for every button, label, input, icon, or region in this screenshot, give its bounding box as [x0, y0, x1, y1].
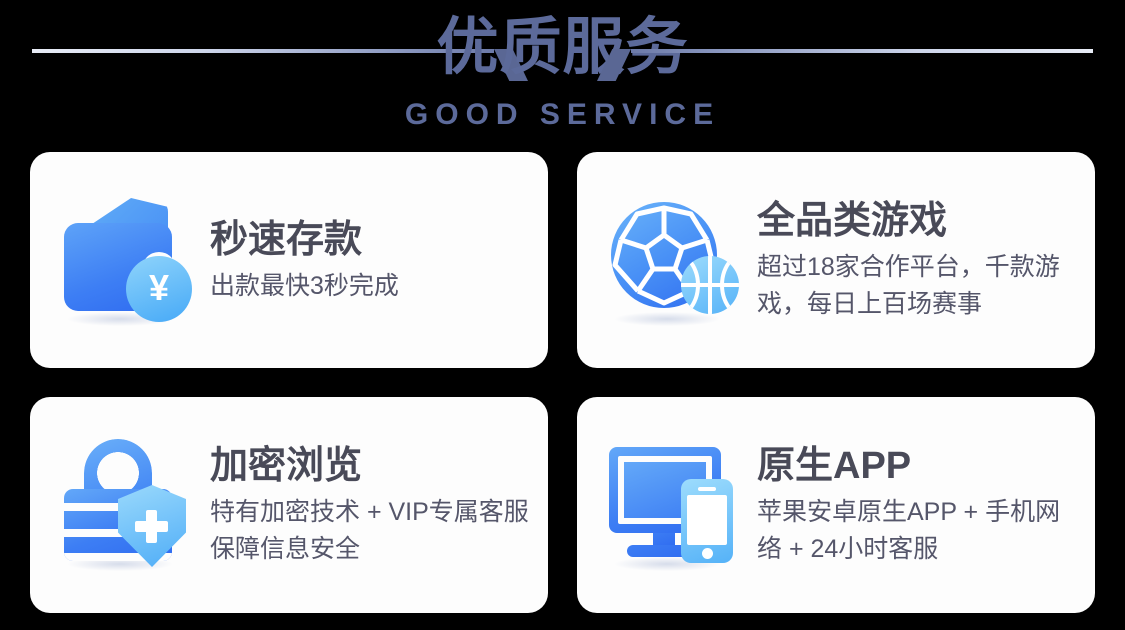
feature-card-grid: ¥ 秒速存款 出款最快3秒完成: [30, 152, 1095, 612]
card-subtitle: 特有加密技术 + VIP专属客服保障信息安全: [210, 494, 530, 568]
card-title: 加密浏览: [210, 442, 530, 490]
card-text-block: 秒速存款 出款最快3秒完成: [204, 216, 530, 305]
phone-home-button: [702, 548, 713, 559]
section-header: 优质服务 GOOD SERVICE: [0, 0, 1125, 148]
monitor-phone-icon: [603, 435, 751, 575]
card-subtitle: 出款最快3秒完成: [210, 268, 530, 305]
phone-screen-shape: [687, 495, 727, 545]
yen-coin-icon: ¥: [126, 256, 192, 322]
phone-speaker-shape: [698, 487, 716, 491]
card-subtitle: 苹果安卓原生APP + 手机网络 + 24小时客服: [757, 494, 1077, 568]
feature-card-all-category-games[interactable]: 全品类游戏 超过18家合作平台，千款游戏，每日上百场赛事: [577, 152, 1095, 368]
card-subtitle: 超过18家合作平台，千款游戏，每日上百场赛事: [757, 249, 1077, 323]
card-title: 原生APP: [757, 442, 1077, 490]
horizontal-rule-right: [631, 49, 1093, 53]
plus-icon: [135, 521, 168, 532]
card-text-block: 加密浏览 特有加密技术 + VIP专属客服保障信息安全: [204, 442, 530, 568]
card-text-block: 全品类游戏 超过18家合作平台，千款游戏，每日上百场赛事: [751, 197, 1077, 323]
soccer-basketball-icon: [603, 190, 751, 330]
page-title: 优质服务: [0, 12, 1125, 84]
promo-banner: 优质服务 GOOD SERVICE ¥ 秒速存款 出款最快3秒完成: [0, 0, 1125, 630]
feature-card-instant-deposit[interactable]: ¥ 秒速存款 出款最快3秒完成: [30, 152, 548, 368]
card-title: 秒速存款: [210, 216, 530, 264]
card-title: 全品类游戏: [757, 197, 1077, 245]
page-subtitle-en: GOOD SERVICE: [0, 98, 1125, 132]
wallet-yen-icon: ¥: [56, 190, 204, 330]
phone-icon: [681, 479, 733, 563]
feature-card-native-app[interactable]: 原生APP 苹果安卓原生APP + 手机网络 + 24小时客服: [577, 397, 1095, 613]
feature-card-encrypted-browsing[interactable]: 加密浏览 特有加密技术 + VIP专属客服保障信息安全: [30, 397, 548, 613]
card-text-block: 原生APP 苹果安卓原生APP + 手机网络 + 24小时客服: [751, 442, 1077, 568]
icon-shadow: [615, 312, 719, 326]
basketball-icon: [681, 256, 739, 314]
lock-shield-icon: [56, 435, 204, 575]
